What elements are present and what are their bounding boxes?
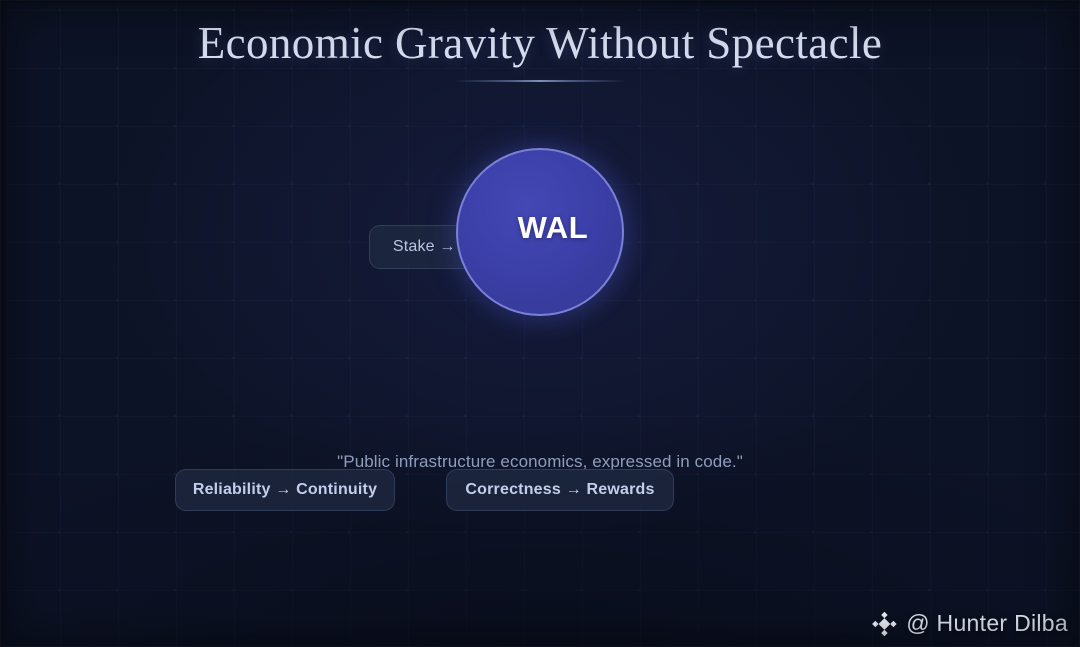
watermark-handle: @ Hunter Dilba xyxy=(906,610,1068,637)
center-node-wal[interactable]: WAL xyxy=(456,148,624,316)
title-underline-rule xyxy=(454,80,626,82)
relation-pill-correctness-rewards[interactable]: Correctness → Rewards xyxy=(446,469,674,511)
page-title: Economic Gravity Without Spectacle xyxy=(0,16,1080,71)
edge-rail-top xyxy=(0,0,1080,5)
relation-pill-reliability-continuity[interactable]: Reliability → Continuity xyxy=(175,469,395,511)
title-block: Economic Gravity Without Spectacle xyxy=(0,16,1080,82)
slide-canvas: Economic Gravity Without Spectacle WAL S… xyxy=(0,0,1080,647)
edge-rail-left xyxy=(0,0,7,647)
center-node-label: WAL xyxy=(518,210,589,246)
binance-diamond-icon xyxy=(871,611,897,637)
watermark: @ Hunter Dilba xyxy=(871,610,1068,637)
